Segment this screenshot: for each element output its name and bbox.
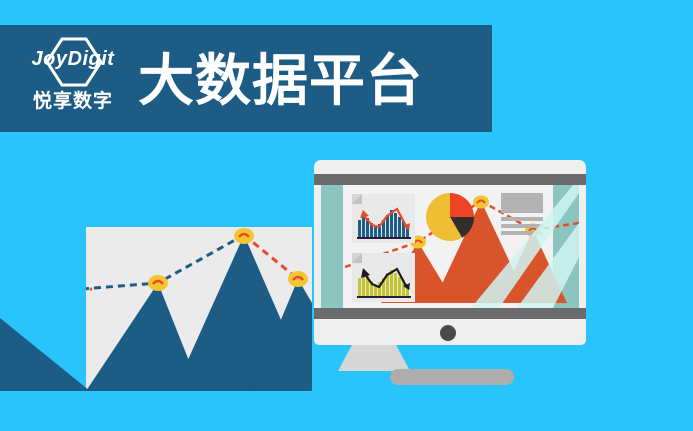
mountain-line-chart-panel xyxy=(86,227,312,391)
monitor-screen xyxy=(321,185,579,308)
bottom-background-field xyxy=(0,391,693,431)
poster-canvas: JoyDigit 悦享数字 大数据平台 xyxy=(0,0,693,431)
placeholder-line xyxy=(501,231,543,235)
pie-slice-b xyxy=(450,193,474,217)
placeholder-heading-bar xyxy=(501,193,543,213)
logo-subtitle: 悦享数字 xyxy=(17,92,129,111)
pie-chart[interactable] xyxy=(424,191,476,243)
brand-logo: JoyDigit 悦享数字 xyxy=(17,35,129,123)
placeholder-line xyxy=(501,224,543,228)
data-marker xyxy=(234,228,254,244)
left-panel-mountain-chart xyxy=(86,227,312,391)
monitor-stand-neck xyxy=(338,345,410,371)
foreground-slope xyxy=(0,300,90,391)
power-indicator-icon xyxy=(440,325,456,341)
data-marker xyxy=(148,275,168,291)
data-marker xyxy=(288,271,308,287)
mini-bar-chart-blue[interactable] xyxy=(352,194,415,243)
placeholder-line xyxy=(501,217,543,221)
desktop-monitor xyxy=(314,160,586,345)
monitor-bottom-bar xyxy=(314,308,586,319)
monitor-stand-base xyxy=(390,369,514,385)
page-title: 大数据平台 xyxy=(138,52,423,110)
logo-wordmark: JoyDigit xyxy=(17,49,129,69)
monitor-top-bar xyxy=(314,174,586,185)
mini-bar-chart-olive[interactable] xyxy=(352,253,415,302)
text-placeholder-block xyxy=(501,193,543,236)
header-banner: JoyDigit 悦享数字 大数据平台 xyxy=(0,25,492,132)
